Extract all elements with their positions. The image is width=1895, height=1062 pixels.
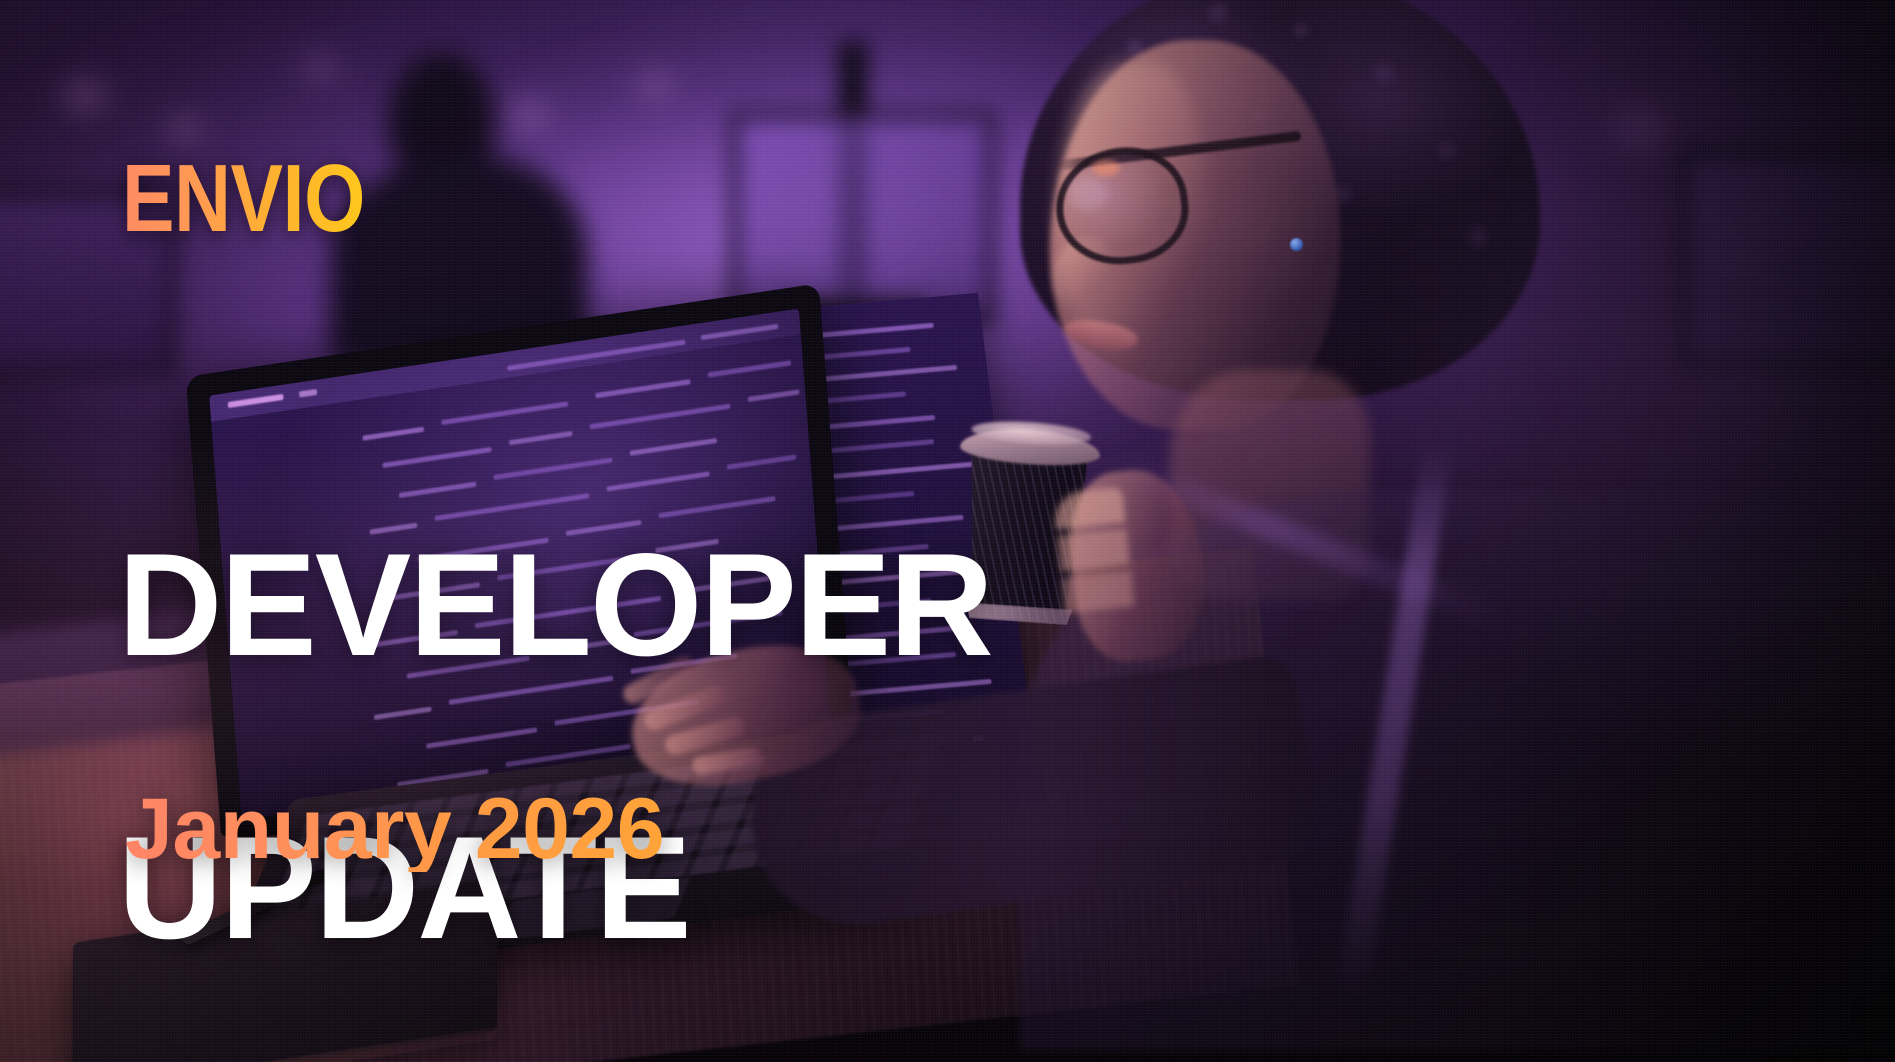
brand-wordmark-envio: ENVIO [122, 151, 365, 247]
issue-date: January 2026 [125, 786, 664, 872]
developer-update-banner: ENVIO DEVELOPER UPDATE January 2026 [0, 0, 1895, 1062]
headline-line-1: DEVELOPER [118, 534, 992, 676]
page-title: DEVELOPER UPDATE [118, 392, 1001, 1062]
text-overlay: ENVIO DEVELOPER UPDATE January 2026 [0, 0, 1895, 1062]
